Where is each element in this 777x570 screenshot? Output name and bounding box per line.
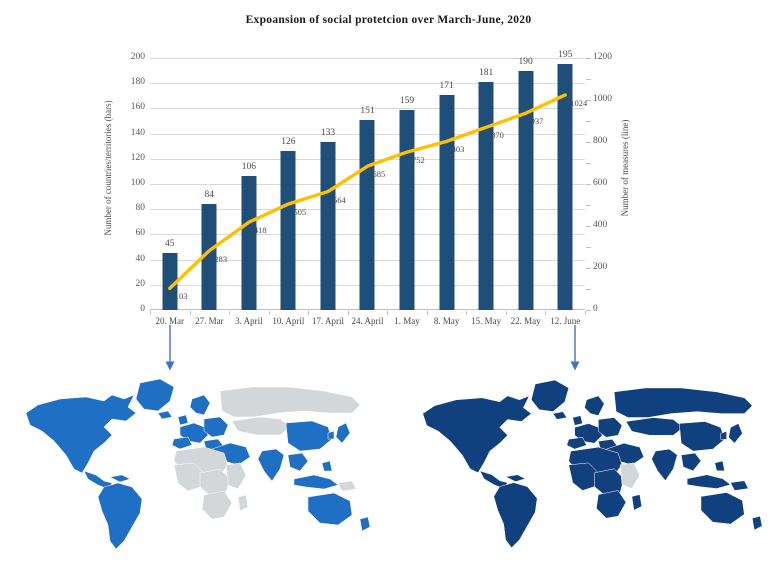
- map-region-png: [731, 481, 749, 491]
- right-axis-tick-mark: [586, 205, 591, 206]
- map-region-south-america: [494, 483, 537, 548]
- right-axis-tick-label: 1200: [593, 53, 629, 63]
- x-axis-tick-mark: [150, 311, 151, 315]
- map-region-east-africa: [620, 463, 640, 489]
- x-axis-tick-label: 8. May: [434, 316, 460, 326]
- map-region-iberia: [567, 437, 587, 449]
- right-axis-tick-mark: [586, 184, 591, 185]
- x-axis-tick-mark: [229, 311, 230, 315]
- left-axis-tick-label: 80: [111, 204, 145, 214]
- right-axis-tick-mark: [586, 247, 591, 248]
- figure-root: Expoansion of social protetcion over Mar…: [0, 0, 777, 570]
- right-axis-tick-label: 0: [593, 305, 629, 315]
- right-axis-tick-mark: [586, 79, 591, 80]
- right-axis-tick-mark: [586, 121, 591, 122]
- map-region-caribbean: [506, 475, 526, 482]
- map-region-philippines: [715, 461, 725, 471]
- map-region-china: [679, 421, 724, 451]
- map-region-india: [652, 449, 678, 481]
- map-region-russia: [220, 387, 360, 417]
- right-axis-tick-mark: [586, 58, 591, 59]
- line-data-label: 803: [452, 145, 465, 154]
- x-axis-tick-mark: [269, 311, 270, 315]
- x-axis-tick-mark: [585, 311, 586, 315]
- right-axis-tick-mark: [586, 268, 591, 269]
- world-map-june: [405, 355, 770, 560]
- x-axis-tick-label: 10. April: [272, 316, 304, 326]
- left-axis-tick-label: 40: [111, 255, 145, 265]
- right-axis-tick-label: 400: [593, 221, 629, 231]
- map-region-new-zealand: [360, 517, 370, 531]
- x-axis-tick-label: 22. May: [511, 316, 541, 326]
- left-axis-tick-label: 100: [111, 179, 145, 189]
- map-region-se-asia: [288, 453, 308, 471]
- line-data-label: 103: [175, 292, 188, 301]
- x-axis-tick-label: 3. April: [235, 316, 263, 326]
- map-region-se-asia: [681, 453, 701, 471]
- left-axis-tick-label: 60: [111, 229, 145, 239]
- map-region-scandinavia: [585, 396, 605, 416]
- left-axis-tick-label: 160: [111, 103, 145, 113]
- right-axis-tick-label: 200: [593, 263, 629, 273]
- right-axis-tick-mark: [586, 226, 591, 227]
- map-region-australia: [701, 493, 744, 525]
- map-region-russia: [614, 388, 752, 418]
- left-axis-tick-label: 120: [111, 154, 145, 164]
- x-axis-tick-mark: [545, 311, 546, 315]
- line-data-label: 937: [531, 117, 544, 126]
- line-data-label: 283: [214, 255, 227, 264]
- map-region-greenland: [136, 379, 174, 411]
- x-axis-tick-mark: [466, 311, 467, 315]
- x-axis-tick-mark: [427, 311, 428, 315]
- x-axis-tick-label: 15. May: [471, 316, 501, 326]
- right-axis-tick-mark: [586, 163, 591, 164]
- line-data-label: 685: [373, 170, 386, 179]
- x-axis-tick-label: 12. June: [550, 316, 580, 326]
- x-axis-tick-label: 1. May: [394, 316, 420, 326]
- map-region-japan: [729, 423, 743, 443]
- map-region-central-asia: [232, 417, 290, 435]
- page-title: Expoansion of social protetcion over Mar…: [0, 14, 777, 26]
- left-axis-tick-label: 20: [111, 280, 145, 290]
- x-axis-tick-mark: [348, 311, 349, 315]
- map-region-greenland: [531, 380, 568, 412]
- line-data-label: 870: [491, 131, 504, 140]
- world-map-march-svg: [8, 355, 378, 560]
- map-region-southern-africa: [596, 491, 626, 519]
- map-region-png: [338, 481, 356, 491]
- line-series: [150, 58, 585, 310]
- line-data-label: 418: [254, 226, 267, 235]
- x-axis-tick-mark: [308, 311, 309, 315]
- map-region-new-zealand: [752, 516, 762, 530]
- map-region-madagascar: [238, 495, 248, 511]
- map-region-japan: [336, 423, 350, 443]
- map-region-central-europe: [598, 418, 622, 438]
- line-data-label: 564: [333, 196, 346, 205]
- map-region-indonesia: [687, 475, 730, 489]
- map-region-southern-africa: [202, 491, 232, 519]
- world-map-june-svg: [405, 355, 770, 560]
- map-region-philippines: [322, 461, 332, 471]
- map-region-central-europe: [204, 417, 228, 437]
- left-axis-tick-label: 180: [111, 78, 145, 88]
- map-region-british-isles: [573, 416, 583, 426]
- map-region-china: [286, 421, 332, 451]
- measures-line[interactable]: [170, 95, 565, 288]
- x-axis-tick-mark: [190, 311, 191, 315]
- map-region-indonesia: [294, 475, 338, 489]
- x-axis-labels: 20. Mar27. Mar3. April10. April17. April…: [150, 316, 585, 332]
- map-region-madagascar: [632, 494, 642, 510]
- map-region-iberia: [172, 437, 192, 449]
- line-data-label: 1024: [570, 99, 587, 108]
- x-axis-tick-mark: [387, 311, 388, 315]
- left-axis-tick-label: 140: [111, 129, 145, 139]
- x-axis-tick-label: 24. April: [351, 316, 383, 326]
- combo-chart: Number of countries/territories (bars) N…: [90, 45, 690, 335]
- x-axis-tick-mark: [506, 311, 507, 315]
- line-data-label: 505: [293, 208, 306, 217]
- plot-area: 020406080100120140160180200 020040060080…: [150, 58, 585, 310]
- map-region-caribbean: [110, 475, 130, 482]
- map-region-india: [258, 449, 284, 481]
- map-region-north-america: [26, 395, 136, 473]
- map-region-australia: [308, 493, 352, 525]
- world-map-march: [8, 355, 378, 560]
- map-region-iceland: [158, 411, 172, 419]
- map-region-east-africa: [226, 463, 246, 489]
- left-axis-tick-label: 200: [111, 53, 145, 63]
- map-region-scandinavia: [190, 395, 210, 415]
- map-region-central-asia: [626, 418, 683, 436]
- map-region-north-america: [423, 396, 532, 473]
- left-axis-tick-label: 0: [111, 305, 145, 315]
- right-axis-tick-label: 600: [593, 179, 629, 189]
- x-axis-tick-label: 27. Mar: [195, 316, 224, 326]
- map-region-british-isles: [178, 415, 188, 425]
- right-axis-tick-label: 800: [593, 137, 629, 147]
- right-axis-tick-mark: [586, 289, 591, 290]
- x-axis-tick-label: 17. April: [312, 316, 344, 326]
- right-axis-tick-label: 1000: [593, 95, 629, 105]
- map-region-iceland: [553, 412, 567, 420]
- line-data-label: 752: [412, 156, 425, 165]
- right-axis-tick-mark: [586, 310, 591, 311]
- right-axis-tick-mark: [586, 142, 591, 143]
- x-axis-tick-label: 20. Mar: [156, 316, 185, 326]
- map-region-south-america: [98, 483, 142, 549]
